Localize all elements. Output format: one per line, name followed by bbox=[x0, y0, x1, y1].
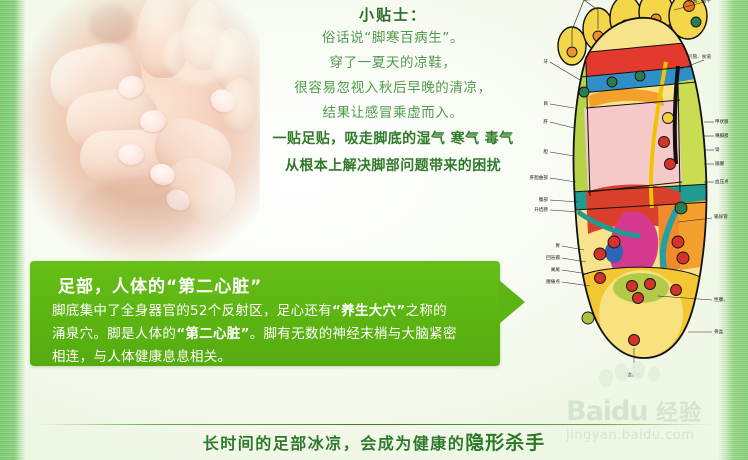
chart-label: 阑尾 bbox=[551, 266, 561, 273]
tips-line: 穿了一夏天的凉鞋， bbox=[250, 51, 536, 76]
watermark-brand: Baidu bbox=[566, 396, 648, 427]
callout-text: 之称的 bbox=[406, 303, 447, 319]
chart-label: 横膈膜 bbox=[715, 132, 728, 139]
chart-label: 小脑、脑干 bbox=[688, 0, 711, 4]
chart-label: 胃 bbox=[555, 243, 560, 249]
chart-label: 胰腺 bbox=[715, 160, 725, 167]
tips-title: 小贴士： bbox=[250, 4, 536, 26]
callout-text: 涌泉穴。脚是人体的 bbox=[52, 326, 176, 342]
chart-label: 输尿管 bbox=[714, 213, 728, 220]
photo-shadow bbox=[74, 180, 194, 250]
callout-body-line-2: 涌泉穴。脚是人体的“第二心脏”。脚有无数的神经末梢与大脑紧密 bbox=[30, 322, 500, 345]
watermark-brand-cn: 经验 bbox=[656, 401, 702, 426]
chart-label: 气管、食道 bbox=[688, 53, 711, 60]
chart-label: 牙 bbox=[543, 59, 548, 65]
chart-label: 腰痛点 bbox=[546, 278, 560, 285]
tips-line: 很容易忽视入秋后早晚的清凉， bbox=[250, 76, 536, 101]
callout-panel: 足部，人体的“第二心脏” 脚底集中了全身器官的52个反射区，足心还有“养生大穴”… bbox=[30, 261, 500, 366]
callout-body-line-1: 脚底集中了全身器官的52个反射区，足心还有“养生大穴”之称的 bbox=[30, 299, 500, 322]
second-heart-callout: 足部，人体的“第二心脏” 脚底集中了全身器官的52个反射区，足心还有“养生大穴”… bbox=[30, 261, 530, 366]
tips-block: 小贴士： 俗话说“脚寒百病生”。 穿了一夏天的凉鞋， 很容易忽视入秋后早晚的清凉… bbox=[250, 2, 536, 202]
slogan-highlight: 隐形杀手 bbox=[465, 432, 545, 454]
foot-reflexology-chart: 小脑、脑干 气管、食道 甲状腺 横膈膜 肾 胰腺 血压点 输尿管 性腺、生殖腺 … bbox=[528, 0, 728, 388]
tips-emphasis: 一贴足贴，吸走脚底的湿气 寒气 毒气 bbox=[250, 126, 536, 153]
foot-massage-photo bbox=[14, 0, 260, 262]
chart-label: 肝胆曲部 bbox=[530, 174, 549, 181]
chart-label: 肾 bbox=[715, 146, 720, 153]
photo-shadow bbox=[88, 4, 134, 44]
tips-line: 结果让感冒乘虚而入。 bbox=[250, 101, 536, 126]
callout-heading: 足部，人体的“第二心脏” bbox=[30, 261, 500, 299]
callout-arrow-icon bbox=[499, 280, 525, 324]
callout-text-bold: “养生大穴” bbox=[332, 303, 406, 319]
chart-label: 回盲瓣 bbox=[546, 254, 560, 261]
chart-label: 胆 bbox=[543, 149, 548, 155]
chart-label: 血压点 bbox=[715, 178, 728, 185]
chart-label: 腹部 bbox=[539, 196, 549, 203]
chart-label: 目 bbox=[543, 101, 548, 107]
callout-body-line-3: 相连，与人体健康息息相关。 bbox=[30, 345, 500, 368]
callout-text: 脚底集中了全身器官的52个反射区，足心还有 bbox=[52, 303, 332, 319]
chart-label: 升结肠 bbox=[534, 206, 548, 213]
promo-page: 小贴士： 俗话说“脚寒百病生”。 穿了一夏天的凉鞋， 很容易忽视入秋后早晚的清凉… bbox=[0, 0, 748, 460]
slogan-text: 长时间的足部冰凉，会成为健康的 bbox=[203, 434, 466, 453]
chart-label: 甲状腺 bbox=[715, 118, 728, 125]
bottom-slogan: 长时间的足部冰凉，会成为健康的隐形杀手 bbox=[0, 428, 748, 455]
tips-line: 俗话说“脚寒百病生”。 bbox=[250, 26, 536, 51]
chart-label: 性腺、生殖腺 bbox=[714, 296, 728, 303]
callout-text-bold: “第二心脏” bbox=[176, 326, 250, 342]
bottom-divider bbox=[36, 424, 712, 425]
photo-highlight bbox=[164, 24, 234, 84]
chart-label: 骨盆 bbox=[714, 328, 724, 335]
callout-text: 。脚有无数的神经末梢与大脑紧密 bbox=[250, 326, 457, 342]
tips-emphasis: 从根本上解决脚部问题带来的困扰 bbox=[250, 153, 536, 180]
chart-label: 肝 bbox=[543, 119, 548, 125]
